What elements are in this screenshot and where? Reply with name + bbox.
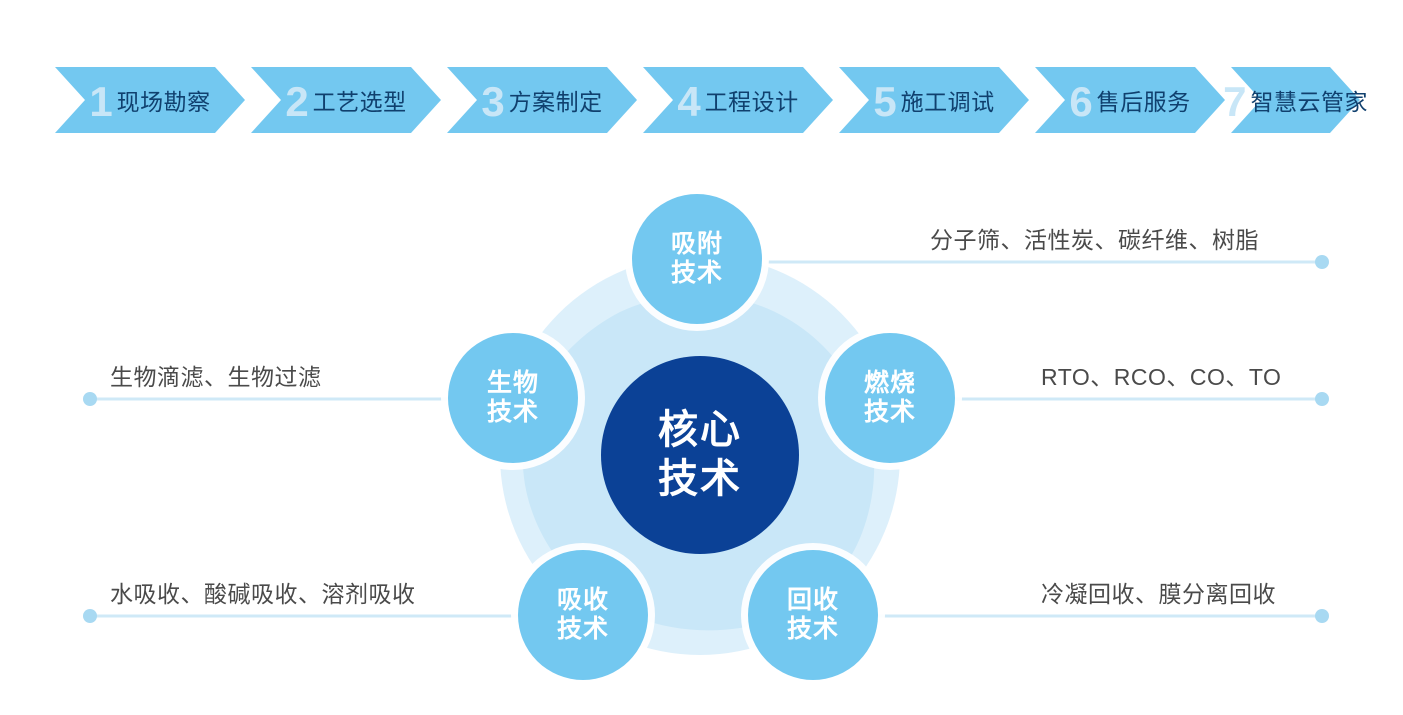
petal-label-line2: 技术 bbox=[787, 615, 839, 645]
petal-recovery[interactable]: 回收 技术 bbox=[748, 550, 878, 680]
core-technology-circle[interactable]: 核心 技术 bbox=[601, 356, 799, 554]
core-technology-hub: 核心 技术 吸附 技术 燃烧 技术 回收 技术 吸收 技术 生物 技术 分子筛、… bbox=[0, 0, 1403, 715]
petal-label-line1: 生物 bbox=[487, 369, 539, 399]
annotation-recovery: 冷凝回收、膜分离回收 bbox=[1041, 575, 1276, 609]
connector-dot-adsorption bbox=[1315, 255, 1329, 269]
petal-label-line2: 技术 bbox=[864, 398, 916, 428]
connector-dot-biological bbox=[83, 392, 97, 406]
annotation-absorption: 水吸收、酸碱吸收、溶剂吸收 bbox=[110, 575, 416, 609]
petal-adsorption[interactable]: 吸附 技术 bbox=[632, 194, 762, 324]
connector-dot-absorption bbox=[83, 609, 97, 623]
core-label-line1: 核心 bbox=[658, 406, 742, 455]
connector-dot-combustion bbox=[1315, 392, 1329, 406]
petal-label-line1: 吸收 bbox=[557, 586, 609, 616]
infographic-canvas: 1 现场勘察 2 工艺选型 3 方案制定 4 工程设计 5 施工调试 6 售后服… bbox=[0, 0, 1403, 715]
petal-label-line1: 燃烧 bbox=[864, 369, 916, 399]
annotation-adsorption: 分子筛、活性炭、碳纤维、树脂 bbox=[930, 221, 1259, 255]
petal-label-line2: 技术 bbox=[487, 398, 539, 428]
petal-biological[interactable]: 生物 技术 bbox=[448, 333, 578, 463]
connector-dot-recovery bbox=[1315, 609, 1329, 623]
petal-label-line2: 技术 bbox=[557, 615, 609, 645]
petal-combustion[interactable]: 燃烧 技术 bbox=[825, 333, 955, 463]
petal-absorption[interactable]: 吸收 技术 bbox=[518, 550, 648, 680]
petal-label-line1: 回收 bbox=[787, 586, 839, 616]
petal-label-line2: 技术 bbox=[671, 259, 723, 289]
core-label-line2: 技术 bbox=[658, 455, 742, 504]
annotation-combustion: RTO、RCO、CO、TO bbox=[1041, 358, 1281, 392]
annotation-biological: 生物滴滤、生物过滤 bbox=[110, 358, 322, 392]
petal-label-line1: 吸附 bbox=[671, 230, 723, 260]
